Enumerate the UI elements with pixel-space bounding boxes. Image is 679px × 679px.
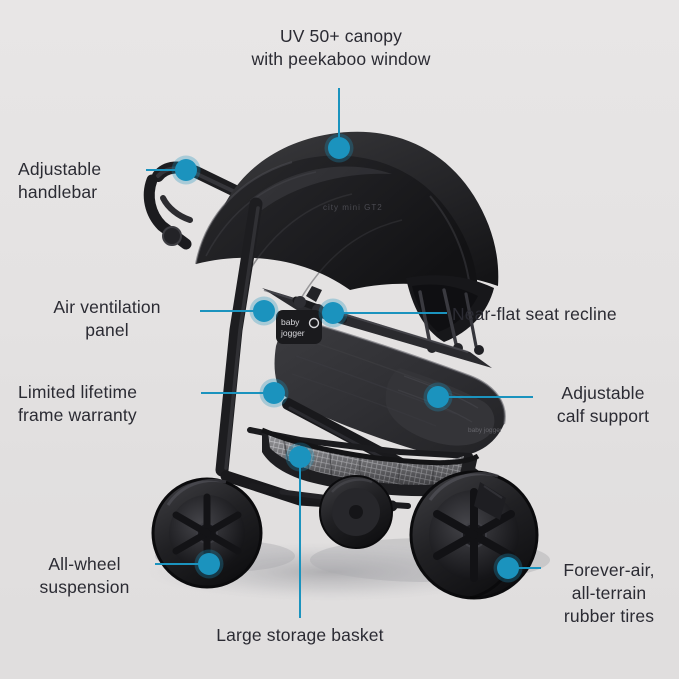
product-callout-diagram: city mini GT2 [0,0,679,679]
callout-dot-near-flat-seat-recline[interactable] [322,302,344,324]
callout-dot-air-ventilation-panel[interactable] [253,300,275,322]
callout-dot-large-storage-basket[interactable] [289,446,311,468]
callout-label-all-wheel-suspension: All-wheel suspension [18,553,151,599]
callout-label-large-storage-basket: Large storage basket [178,624,422,647]
callout-label-uv-canopy: UV 50+ canopy with peekaboo window [206,25,476,71]
callout-label-air-ventilation-panel: Air ventilation panel [18,296,196,342]
callout-label-near-flat-seat-recline: Near-flat seat recline [452,303,664,326]
callout-label-forever-air-tires: Forever-air, all-terrain rubber tires [546,559,672,628]
callout-dot-limited-lifetime-frame-warranty[interactable] [263,382,285,404]
callout-dot-uv-canopy[interactable] [328,137,350,159]
callout-dot-adjustable-handlebar[interactable] [175,159,197,181]
callout-label-adjustable-handlebar: Adjustable handlebar [18,158,142,204]
callout-dot-all-wheel-suspension[interactable] [198,553,220,575]
callout-dot-adjustable-calf-support[interactable] [427,386,449,408]
callout-label-limited-lifetime-frame-warranty: Limited lifetime frame warranty [18,381,196,427]
callout-label-adjustable-calf-support: Adjustable calf support [538,382,668,428]
callout-dot-forever-air-tires[interactable] [497,557,519,579]
